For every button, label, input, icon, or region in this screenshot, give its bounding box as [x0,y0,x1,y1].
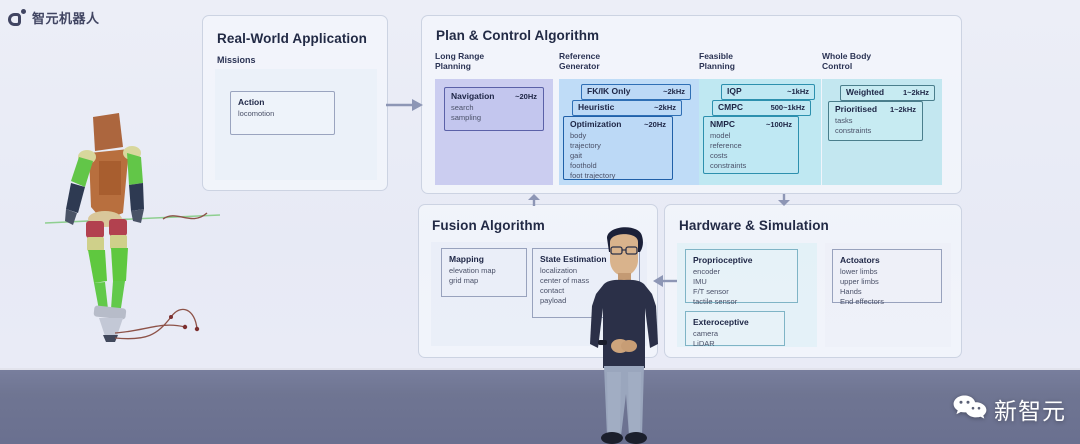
chip-heuristic-rate: ~2kHz [654,103,676,112]
chip-optimization-name: Optimization [570,119,621,129]
panel-title-fusion: Fusion Algorithm [432,218,545,233]
arrow-realworld-to-plan [386,97,424,113]
box-proprioceptive-items: encoder IMU F/T sensor tactile sensor [693,267,790,307]
hardware-actuator-area: Actoators lower limbs upper limbs Hands … [825,243,951,347]
chip-weighted-name: Weighted [846,87,884,97]
chip-prioritised-items: tasks constraints [835,116,916,136]
box-mapping-items: elevation map grid map [449,266,519,286]
chip-iqp-name: IQP [727,86,742,96]
section-label-whole-body-control: Whole Body Control [822,52,950,71]
section-label-missions: Missions [217,55,256,65]
chip-optimization-items: body trajectory gait foothold foot traje… [570,131,666,181]
box-exteroceptive-name: Exteroceptive [693,317,749,327]
zhiyuan-logo-icon [8,9,26,27]
chip-nmpc-rate: ~100Hz [766,120,792,129]
chip-optimization[interactable]: Optimization ~20Hz body trajectory gait … [563,116,673,180]
missions-area: Action locomotion [215,69,377,180]
box-actuators-name: Actoators [840,255,880,265]
chip-weighted[interactable]: Weighted 1~2kHz [840,85,935,101]
hardware-sensor-area: Proprioceptive encoder IMU F/T sensor ta… [677,243,817,347]
chip-iqp[interactable]: IQP ~1kHz [721,84,815,100]
chip-fk-ik-only[interactable]: FK/IK Only ~2kHz [581,84,691,100]
panel-hardware-simulation: Hardware & Simulation Proprioceptive enc… [664,204,962,358]
chip-prioritised-rate: 1~2kHz [890,105,916,114]
box-actuators-items: lower limbs upper limbs Hands End effect… [840,267,934,307]
chip-heuristic[interactable]: Heuristic ~2kHz [572,100,682,116]
box-exteroceptive-items: camera LiDAR [693,329,777,349]
section-label-long-range-planning: Long Range Planning [435,52,553,71]
arrow-plan-to-hardware [776,194,792,206]
wechat-watermark: 新智元 [953,392,1066,426]
chip-cmpc-rate: 500~1kHz [771,103,805,112]
panel-title-plan-control: Plan & Control Algorithm [436,28,599,43]
panel-real-world-application: Real-World Application Missions Action l… [202,15,388,191]
box-exteroceptive[interactable]: Exteroceptive camera LiDAR [685,311,785,346]
feasible-planning-area: IQP ~1kHz CMPC 500~1kHz NMPC ~100Hz [699,79,821,185]
chip-optimization-rate: ~20Hz [644,120,666,129]
brand-logo: 智元机器人 [8,8,100,27]
chip-navigation-rate: ~20Hz [515,92,537,101]
chip-fk-ik-only-rate: ~2kHz [663,87,685,96]
panel-plan-control-algorithm: Plan & Control Algorithm Long Range Plan… [421,15,962,194]
simulated-robot-figure [45,95,220,345]
chip-heuristic-name: Heuristic [578,102,614,112]
panel-title-hardware: Hardware & Simulation [679,218,829,233]
box-action[interactable]: Action locomotion [230,91,335,135]
box-action-name: Action [238,97,264,107]
chip-weighted-rate: 1~2kHz [903,88,929,97]
chip-navigation-items: search sampling [451,103,537,123]
chip-cmpc[interactable]: CMPC 500~1kHz [712,100,811,116]
section-label-feasible-planning: Feasible Planning [699,52,829,71]
box-mapping-name: Mapping [449,254,484,264]
chip-nmpc-name: NMPC [710,119,735,129]
brand-name: 智元机器人 [32,8,100,27]
box-proprioceptive[interactable]: Proprioceptive encoder IMU F/T sensor ta… [685,249,798,303]
chip-navigation-name: Navigation [451,91,494,101]
chip-prioritised[interactable]: Prioritised 1~2kHz tasks constraints [828,101,923,141]
panel-title-real-world: Real-World Application [217,31,367,46]
arrow-fusion-to-plan [526,194,542,206]
whole-body-control-area: Weighted 1~2kHz Prioritised 1~2kHz tasks… [822,79,942,185]
chip-iqp-rate: ~1kHz [787,87,809,96]
stage-floor [0,368,1080,444]
long-range-planning-area: Navigation ~20Hz search sampling [435,79,553,185]
chip-prioritised-name: Prioritised [835,104,877,114]
chip-nmpc-items: model reference costs constraints [710,131,792,171]
wechat-icon [953,394,987,425]
chip-cmpc-name: CMPC [718,102,743,112]
watermark-text: 新智元 [994,392,1066,426]
chip-fk-ik-only-name: FK/IK Only [587,86,630,96]
section-label-reference-generator: Reference Generator [559,52,709,71]
box-action-items: locomotion [238,109,327,119]
chip-navigation[interactable]: Navigation ~20Hz search sampling [444,87,544,131]
reference-generator-area: FK/IK Only ~2kHz Heuristic ~2kHz Optimiz… [559,79,702,185]
chip-nmpc[interactable]: NMPC ~100Hz model reference costs constr… [703,116,799,174]
box-actuators[interactable]: Actoators lower limbs upper limbs Hands … [832,249,942,303]
box-mapping[interactable]: Mapping elevation map grid map [441,248,527,297]
presenter-person [576,222,672,444]
box-proprioceptive-name: Proprioceptive [693,255,753,265]
